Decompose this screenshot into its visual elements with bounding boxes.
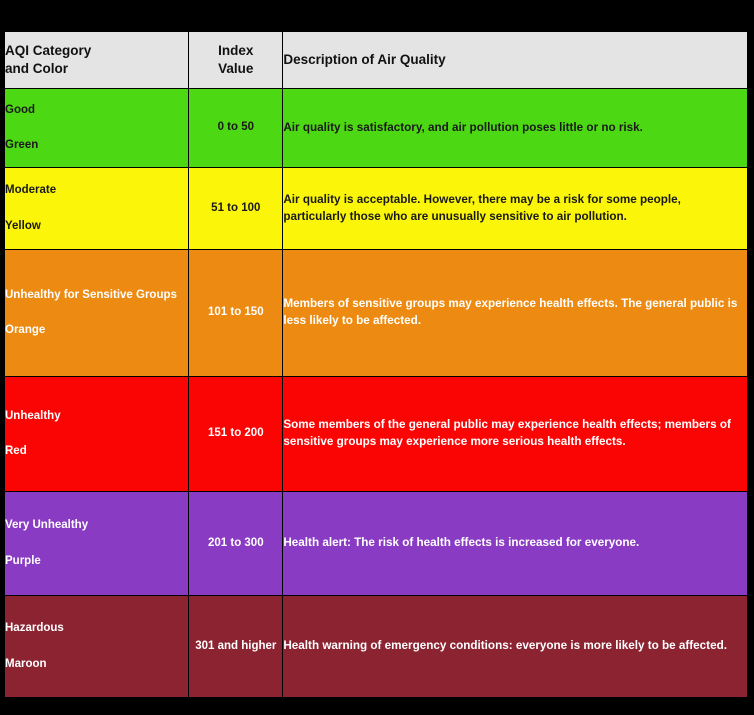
column-header-index-value-line-1: Index [189, 42, 282, 60]
cell-description-unhealthy-sensitive-groups: Members of sensitive groups may experien… [283, 250, 748, 377]
table-row: Unhealthy Red 151 to 200 Some members of… [5, 377, 748, 492]
cell-category-moderate: Moderate Yellow [5, 168, 189, 250]
cell-index-value-good: 0 to 50 [189, 89, 283, 168]
category-color-name: Green [5, 138, 188, 153]
table-row: Hazardous Maroon 301 and higher Health w… [5, 596, 748, 698]
cell-description-moderate: Air quality is acceptable. However, ther… [283, 168, 748, 250]
table-row: Moderate Yellow 51 to 100 Air quality is… [5, 168, 748, 250]
table-row: Good Green 0 to 50 Air quality is satisf… [5, 89, 748, 168]
cell-category-unhealthy: Unhealthy Red [5, 377, 189, 492]
cell-description-hazardous: Health warning of emergency conditions: … [283, 596, 748, 698]
category-name: Hazardous [5, 621, 188, 636]
category-name: Very Unhealthy [5, 518, 188, 533]
cell-category-good: Good Green [5, 89, 189, 168]
index-value-line-1: 0 to 50 [218, 121, 254, 133]
category-color-name: Yellow [5, 219, 188, 234]
index-value-line-1: 51 to 100 [211, 202, 260, 214]
category-color-name: Purple [5, 554, 188, 569]
header-row: AQI Category and Color Index Value Descr… [5, 32, 748, 89]
table-row: Very Unhealthy Purple 201 to 300 Health … [5, 492, 748, 596]
index-value-line-1: 301 and [195, 640, 238, 652]
cell-index-value-unhealthy: 151 to 200 [189, 377, 283, 492]
cell-index-value-hazardous: 301 and higher [189, 596, 283, 698]
cell-description-good: Air quality is satisfactory, and air pol… [283, 89, 748, 168]
category-color-name: Red [5, 444, 188, 459]
category-name: Moderate [5, 183, 188, 198]
table-row: Unhealthy for Sensitive Groups Orange 10… [5, 250, 748, 377]
cell-category-very-unhealthy: Very Unhealthy Purple [5, 492, 189, 596]
page-root: AQI Category and Color Index Value Descr… [0, 0, 754, 715]
cell-description-unhealthy: Some members of the general public may e… [283, 377, 748, 492]
index-value-line-1: 101 to 150 [208, 306, 264, 318]
cell-category-hazardous: Hazardous Maroon [5, 596, 189, 698]
index-value-line-2: higher [241, 640, 276, 652]
column-header-index-value: Index Value [189, 32, 283, 89]
column-header-category-line-2: and Color [5, 60, 188, 78]
column-header-index-value-line-2: Value [189, 60, 282, 78]
category-name: Unhealthy for Sensitive Groups [5, 288, 188, 303]
cell-index-value-very-unhealthy: 201 to 300 [189, 492, 283, 596]
index-value-line-1: 201 to 300 [208, 537, 264, 549]
index-value-line-1: 151 to 200 [208, 427, 264, 439]
table-body: Good Green 0 to 50 Air quality is satisf… [5, 89, 748, 698]
category-name: Good [5, 103, 188, 118]
category-color-name: Orange [5, 323, 188, 338]
table-header: AQI Category and Color Index Value Descr… [5, 32, 748, 89]
cell-index-value-unhealthy-sensitive-groups: 101 to 150 [189, 250, 283, 377]
category-color-name: Maroon [5, 657, 188, 672]
cell-description-very-unhealthy: Health alert: The risk of health effects… [283, 492, 748, 596]
category-name: Unhealthy [5, 409, 188, 424]
column-header-description: Description of Air Quality [283, 32, 748, 89]
cell-category-unhealthy-sensitive-groups: Unhealthy for Sensitive Groups Orange [5, 250, 189, 377]
cell-index-value-moderate: 51 to 100 [189, 168, 283, 250]
column-header-category-line-1: AQI Category [5, 42, 188, 60]
aqi-category-table: AQI Category and Color Index Value Descr… [4, 31, 748, 698]
column-header-category: AQI Category and Color [5, 32, 189, 89]
top-black-band [0, 0, 754, 31]
